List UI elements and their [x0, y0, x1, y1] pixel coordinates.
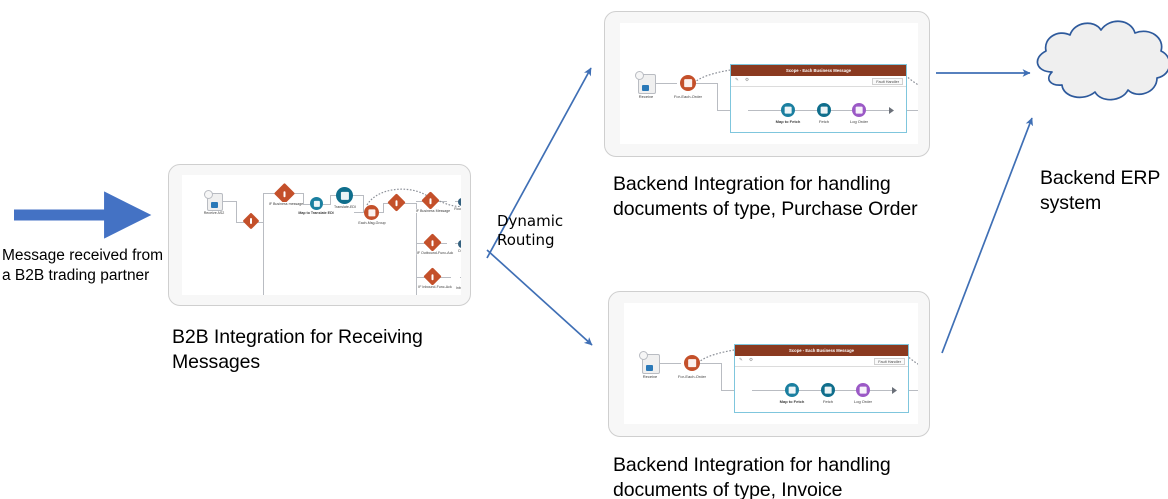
b2b-integration-panel[interactable]: Receive AS2 IF Business message Map to T… — [168, 164, 471, 306]
b2b-node-if-business-message[interactable] — [274, 183, 295, 204]
backend-node-label: For-Each-Order — [674, 94, 702, 99]
b2b-node-label: Each-Msg-Group — [358, 221, 385, 225]
b2b-node-label: IF Outbound-Func-Ack — [417, 251, 453, 255]
backend-node-receive[interactable] — [638, 74, 656, 94]
fault-handler-button[interactable]: Fault Handler — [874, 358, 905, 366]
b2b-node-label: Translate-EDI — [334, 205, 356, 209]
backend-node-label: Fetch — [819, 119, 829, 124]
backend-node-receive[interactable] — [642, 354, 660, 374]
b2b-integration-caption: B2B Integration for Receiving Messages — [172, 325, 502, 375]
b2b-node-decision-aux[interactable] — [243, 213, 260, 230]
b2b-node-map-to-translate-edi[interactable] — [310, 197, 323, 210]
b2b-node-label: Receive AS2 — [204, 211, 225, 215]
dynamic-routing-label: Dynamic Routing — [497, 212, 587, 250]
scope-box-invoice: Scope - Each Business Message ✎ ⚙ Fault … — [734, 344, 909, 413]
b2b-integration-canvas: Receive AS2 IF Business message Map to T… — [182, 175, 461, 295]
scope-toolbar: ✎ ⚙ Fault Handler — [735, 356, 908, 367]
settings-icon[interactable]: ⚙ — [745, 78, 749, 83]
b2b-node-each-msg-group[interactable] — [364, 205, 379, 220]
b2b-node-translate-edi[interactable] — [336, 187, 353, 204]
erp-caption: Backend ERP system — [1040, 166, 1168, 216]
scope-toolbar: ✎ ⚙ Fault Handler — [731, 76, 906, 87]
backend-panel-purchase-order[interactable]: Receive For-Each-Order Scope - Each Busi… — [604, 11, 930, 157]
erp-arrow-from-invoice — [942, 118, 1032, 353]
settings-icon[interactable]: ⚙ — [749, 358, 753, 363]
backend-node-log-order[interactable] — [856, 383, 870, 397]
backend-node-label: Map to Fetch — [780, 399, 805, 404]
edit-icon[interactable]: ✎ — [735, 78, 739, 83]
backend-canvas-purchase-order: Receive For-Each-Order Scope - Each Busi… — [620, 23, 918, 144]
b2b-node-receive-as2[interactable] — [207, 193, 223, 211]
backend-node-for-each-order[interactable] — [684, 355, 700, 371]
b2b-node-label: IF Business message — [269, 202, 303, 206]
backend-node-label: Receive — [643, 374, 657, 379]
inbound-caption: Message received from a B2B trading part… — [2, 246, 182, 286]
backend-panel-invoice[interactable]: Receive For-Each-Order Scope - Each Busi… — [608, 291, 930, 437]
backend-node-label: Fetch — [823, 399, 833, 404]
scope-box-purchase-order: Scope - Each Business Message ✎ ⚙ Fault … — [730, 64, 907, 133]
backend-node-fetch[interactable] — [817, 103, 831, 117]
scope-arrow-end — [889, 106, 899, 115]
b2b-node-label: Route to Backend Intg ... — [454, 207, 461, 211]
scope-title: Scope - Each Business Message — [735, 345, 908, 356]
edit-icon[interactable]: ✎ — [739, 358, 743, 363]
backend-node-map-to-fetch[interactable] — [785, 383, 799, 397]
scope-arrow-end — [892, 386, 902, 395]
diagram-canvas: Message received from a B2B trading part… — [0, 0, 1168, 499]
backend-canvas-invoice: Receive For-Each-Order Scope - Each Busi… — [624, 303, 918, 424]
backend-node-fetch[interactable] — [821, 383, 835, 397]
backend-node-log-order[interactable] — [852, 103, 866, 117]
fault-handler-button[interactable]: Fault Handler — [872, 78, 903, 86]
backend-node-label: For-Each-Order — [678, 374, 706, 379]
backend-caption-invoice: Backend Integration for handling documen… — [613, 453, 973, 499]
b2b-node-if-outbound-func-ack[interactable] — [423, 233, 441, 251]
backend-node-label: Log Order — [850, 119, 868, 124]
backend-node-for-each-order[interactable] — [680, 75, 696, 91]
backend-erp-cloud — [1037, 21, 1168, 99]
b2b-node-label: IF Inbound-Func-Ack — [418, 285, 452, 289]
backend-node-label: Map to Fetch — [776, 119, 801, 124]
backend-caption-purchase-order: Backend Integration for handling documen… — [613, 172, 973, 222]
routing-arrow-to-invoice — [487, 250, 592, 345]
backend-node-map-to-fetch[interactable] — [781, 103, 795, 117]
b2b-node-label: Inbound-Functional-... Fa — [456, 286, 461, 290]
b2b-node-if-inbound-func-ack[interactable] — [423, 267, 441, 285]
backend-node-label: Receive — [639, 94, 653, 99]
b2b-node-label: Deliver Functional Ack — [458, 249, 461, 253]
b2b-node-label: IF Business Message — [416, 209, 450, 213]
b2b-node-deliver-badge — [458, 240, 461, 248]
b2b-node-route-badge — [458, 198, 461, 206]
scope-title: Scope - Each Business Message — [731, 65, 906, 76]
backend-node-label: Log Order — [854, 399, 872, 404]
b2b-node-label: Map to Translate EDI — [298, 211, 333, 215]
